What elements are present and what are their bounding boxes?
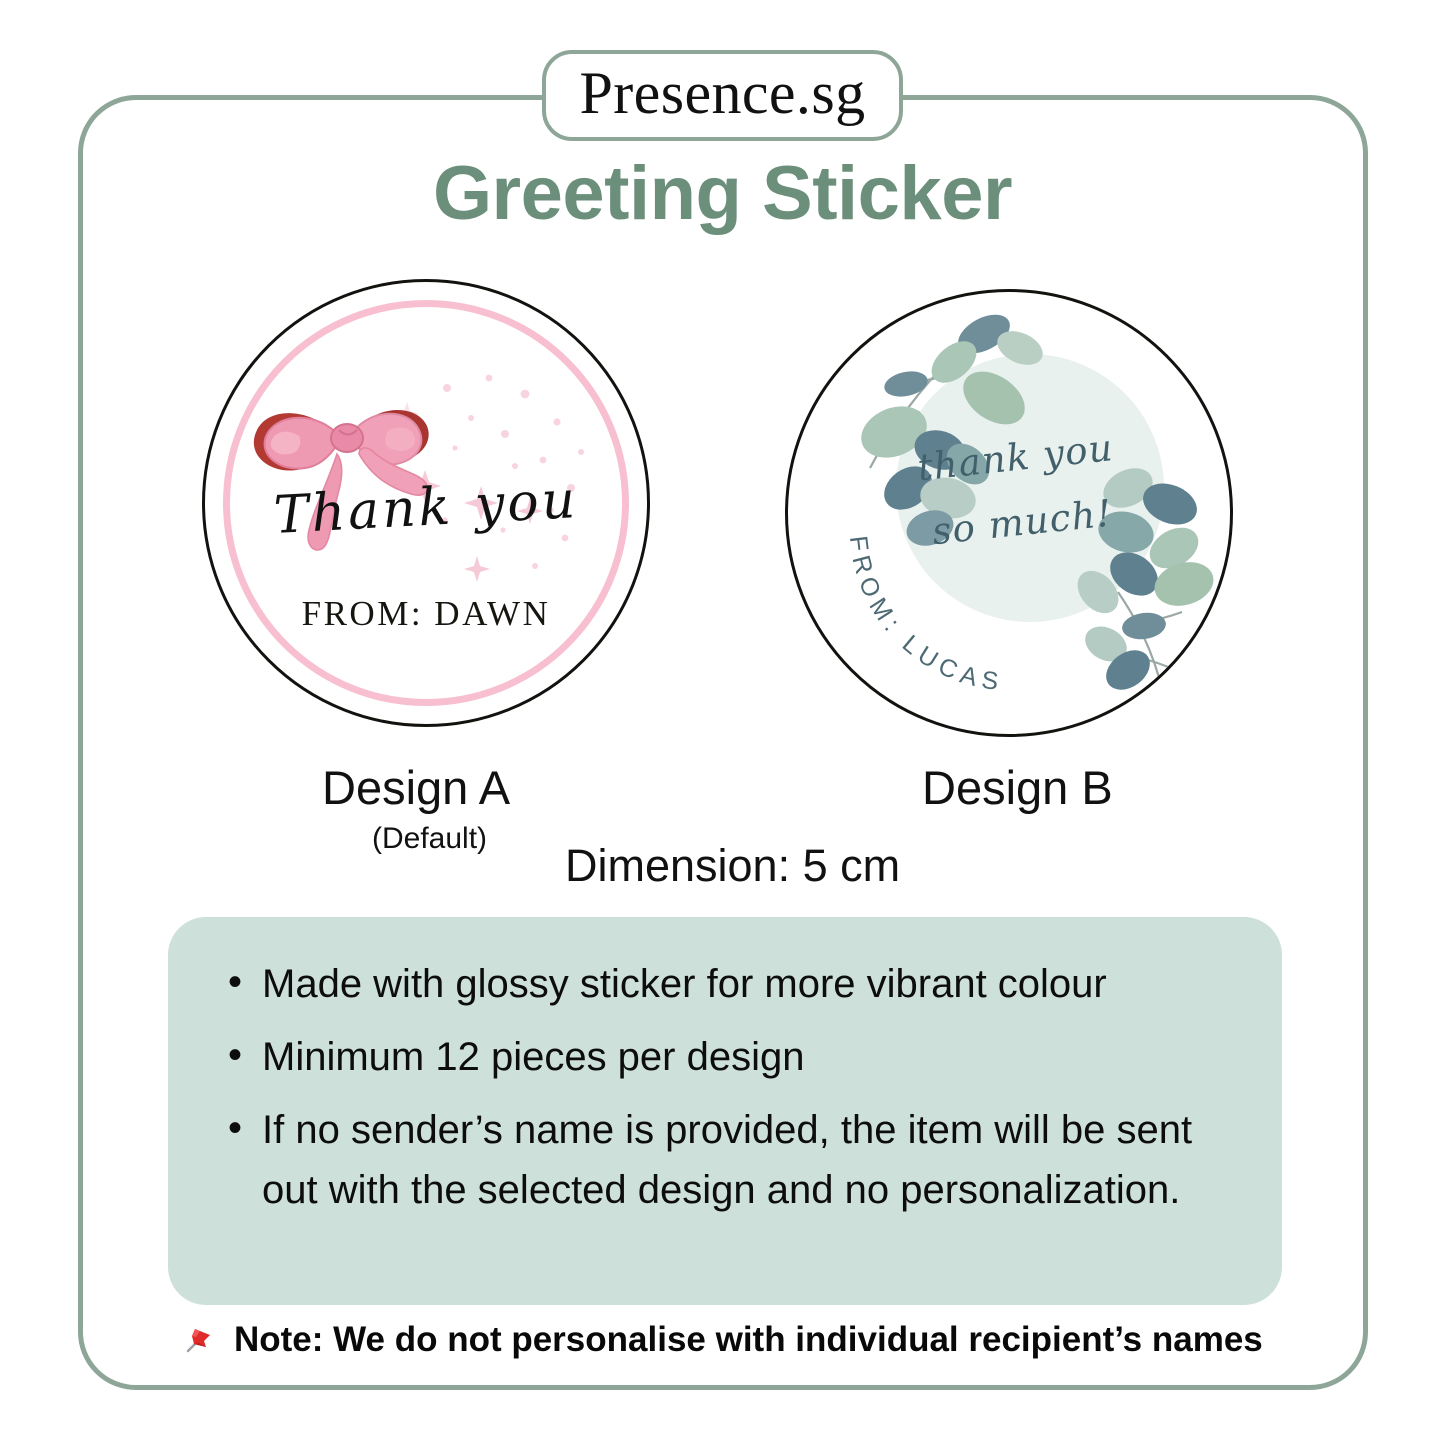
pushpin-icon [182, 1323, 216, 1357]
sticker-design-a[interactable]: Thankyou FROM: DAWN [202, 279, 650, 727]
script-word-2: you [473, 470, 579, 535]
sticker-previews: Thankyou FROM: DAWN [0, 277, 1445, 777]
info-bullet-list: Made with glossy sticker for more vibran… [220, 955, 1230, 1220]
design-a-caption: Design A [322, 760, 510, 815]
design-b-from-text: FROM: LUCAS [788, 292, 1233, 737]
list-item: If no sender’s name is provided, the ite… [220, 1101, 1230, 1219]
info-box: Made with glossy sticker for more vibran… [168, 917, 1282, 1305]
footer-note-text: Note: We do not personalise with individ… [234, 1320, 1263, 1359]
dimension-label: Dimension: 5 cm [565, 840, 900, 892]
brand-name: Presence.sg [580, 63, 866, 124]
design-a-from-text: FROM: DAWN [205, 594, 647, 634]
from-arc-label: FROM: LUCAS [844, 534, 1006, 696]
sticker-design-b[interactable]: thank you so much! FROM: LUCAS [785, 289, 1233, 737]
brand-badge: Presence.sg [542, 50, 904, 141]
design-a-default-label: (Default) [372, 822, 487, 856]
page-title: Greeting Sticker [0, 150, 1445, 237]
list-item: Made with glossy sticker for more vibran… [220, 955, 1230, 1014]
footer-note: Note: We do not personalise with individ… [0, 1320, 1445, 1360]
list-item: Minimum 12 pieces per design [220, 1028, 1230, 1087]
design-b-caption: Design B [922, 760, 1113, 815]
script-word-1: Thank [272, 477, 454, 546]
